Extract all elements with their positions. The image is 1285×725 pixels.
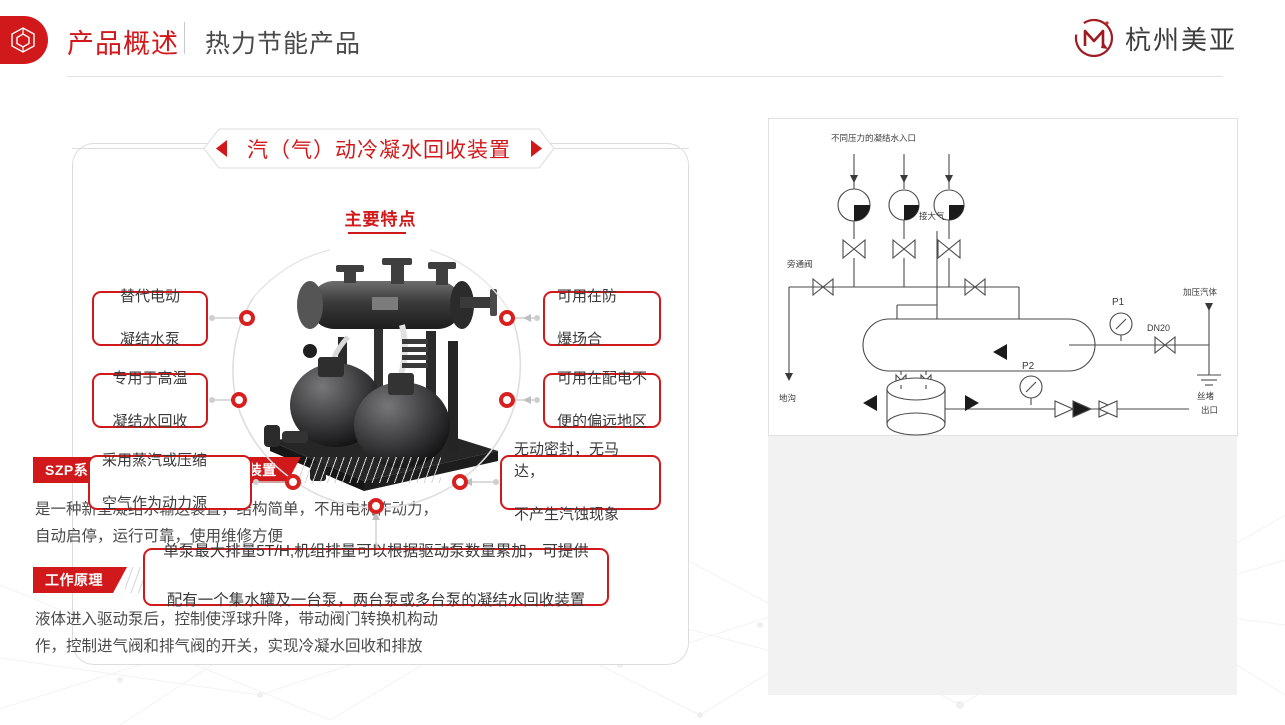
label-drain: 地沟 — [779, 393, 796, 404]
feature-box-explosion-proof[interactable]: 可用在防 爆场合 — [543, 291, 661, 346]
label-outlet: 出口 — [1201, 405, 1218, 416]
meiya-m-logo-icon — [1072, 16, 1116, 60]
section-banner: 汽（气）动冷凝水回收装置 — [203, 128, 555, 169]
label-plug: 丝堵 — [1197, 391, 1215, 402]
feature-line: 专用于高温 — [106, 368, 194, 390]
feature-marker-2 — [231, 392, 247, 408]
header-divider — [184, 22, 185, 54]
banner-title: 汽（气）动冷凝水回收装置 — [203, 128, 555, 169]
feature-line: 不产生汽蚀现象 — [514, 504, 647, 526]
feature-line: 爆场合 — [557, 329, 647, 351]
feature-line: 配有一个集水罐及一台泵，两台泵或多台泵的凝结水回收装置 — [157, 589, 595, 614]
feature-line: 空气作为动力源 — [102, 493, 238, 515]
feature-line: 采用蒸汽或压缩 — [102, 450, 238, 472]
slide-root: 产品概述 热力节能产品 杭州美亚 汽（气）动冷凝水回收装置 主要特点 — [0, 0, 1285, 725]
logo-text: 杭州美亚 — [1125, 20, 1237, 57]
feature-box-remote-areas[interactable]: 可用在配电不 便的偏远地区 — [543, 373, 661, 428]
feature-marker-3 — [285, 474, 301, 490]
feature-line: 替代电动 — [106, 286, 194, 308]
header-badge — [0, 16, 48, 64]
feature-marker-4 — [499, 310, 515, 326]
feature-marker-5 — [499, 392, 515, 408]
feature-line: 凝结水回收 — [106, 411, 194, 433]
section-tag-label: 工作原理 — [33, 567, 127, 593]
label-p2: P2 — [1022, 361, 1035, 372]
feature-box-steam-air-power[interactable]: 采用蒸汽或压缩 空气作为动力源 — [88, 455, 252, 510]
feature-line: 便的偏远地区 — [557, 411, 647, 433]
feature-box-capacity-note[interactable]: 单泵最大排量5T/H,机组排量可以根据驱动泵数量累加，可提供 配有一个集水罐及一… — [143, 548, 609, 606]
feature-line: 凝结水泵 — [106, 329, 194, 351]
process-diagram-box: 不同压力的凝结水入口 旁通阀 地沟 接大气 P1 P2 DN20 加压汽体 丝堵… — [768, 118, 1238, 436]
label-inlet: 不同压力的凝结水入口 — [831, 133, 916, 144]
banner-rule-right — [551, 148, 689, 149]
feature-line: 可用在防 — [557, 286, 647, 308]
feature-line: 可用在配电不 — [557, 368, 647, 390]
process-diagram: 不同压力的凝结水入口 旁通阀 地沟 接大气 P1 P2 DN20 加压汽体 丝堵… — [769, 119, 1239, 437]
label-p1: P1 — [1112, 297, 1125, 308]
page-title: 产品概述 — [67, 22, 179, 61]
feature-marker-1 — [239, 310, 255, 326]
brand-logo: 杭州美亚 — [1072, 16, 1237, 60]
feature-box-replace-electric-pump[interactable]: 替代电动 凝结水泵 — [92, 291, 208, 346]
cube-box-icon — [10, 26, 36, 54]
banner-rule-left — [72, 148, 207, 149]
section-tag-hatch — [299, 457, 441, 483]
feature-line: 单泵最大排量5T/H,机组排量可以根据驱动泵数量累加，可提供 — [157, 540, 595, 565]
label-bypass-valve: 旁通阀 — [787, 259, 813, 270]
label-dn20: DN20 — [1147, 323, 1170, 333]
page-subtitle: 热力节能产品 — [205, 24, 361, 60]
feature-line: 无动密封，无马达， — [514, 439, 647, 483]
section-line: 作，控制进气阀和排气阀的开关，实现冷凝水回收和排放 — [35, 638, 423, 655]
feature-marker-6 — [452, 474, 468, 490]
features-subtitle: 主要特点 — [0, 205, 761, 230]
label-pressurized-gas: 加压汽体 — [1183, 287, 1218, 298]
feature-box-no-seal-no-motor[interactable]: 无动密封，无马达， 不产生汽蚀现象 — [500, 455, 661, 510]
page-header: 产品概述 热力节能产品 杭州美亚 — [0, 0, 1285, 80]
label-to-atmosphere: 接大气 — [919, 211, 945, 222]
header-rule — [67, 76, 1223, 77]
feature-marker-7 — [368, 498, 384, 514]
feature-box-high-temp-recovery[interactable]: 专用于高温 凝结水回收 — [92, 373, 208, 428]
features-subtitle-rule — [348, 232, 406, 234]
